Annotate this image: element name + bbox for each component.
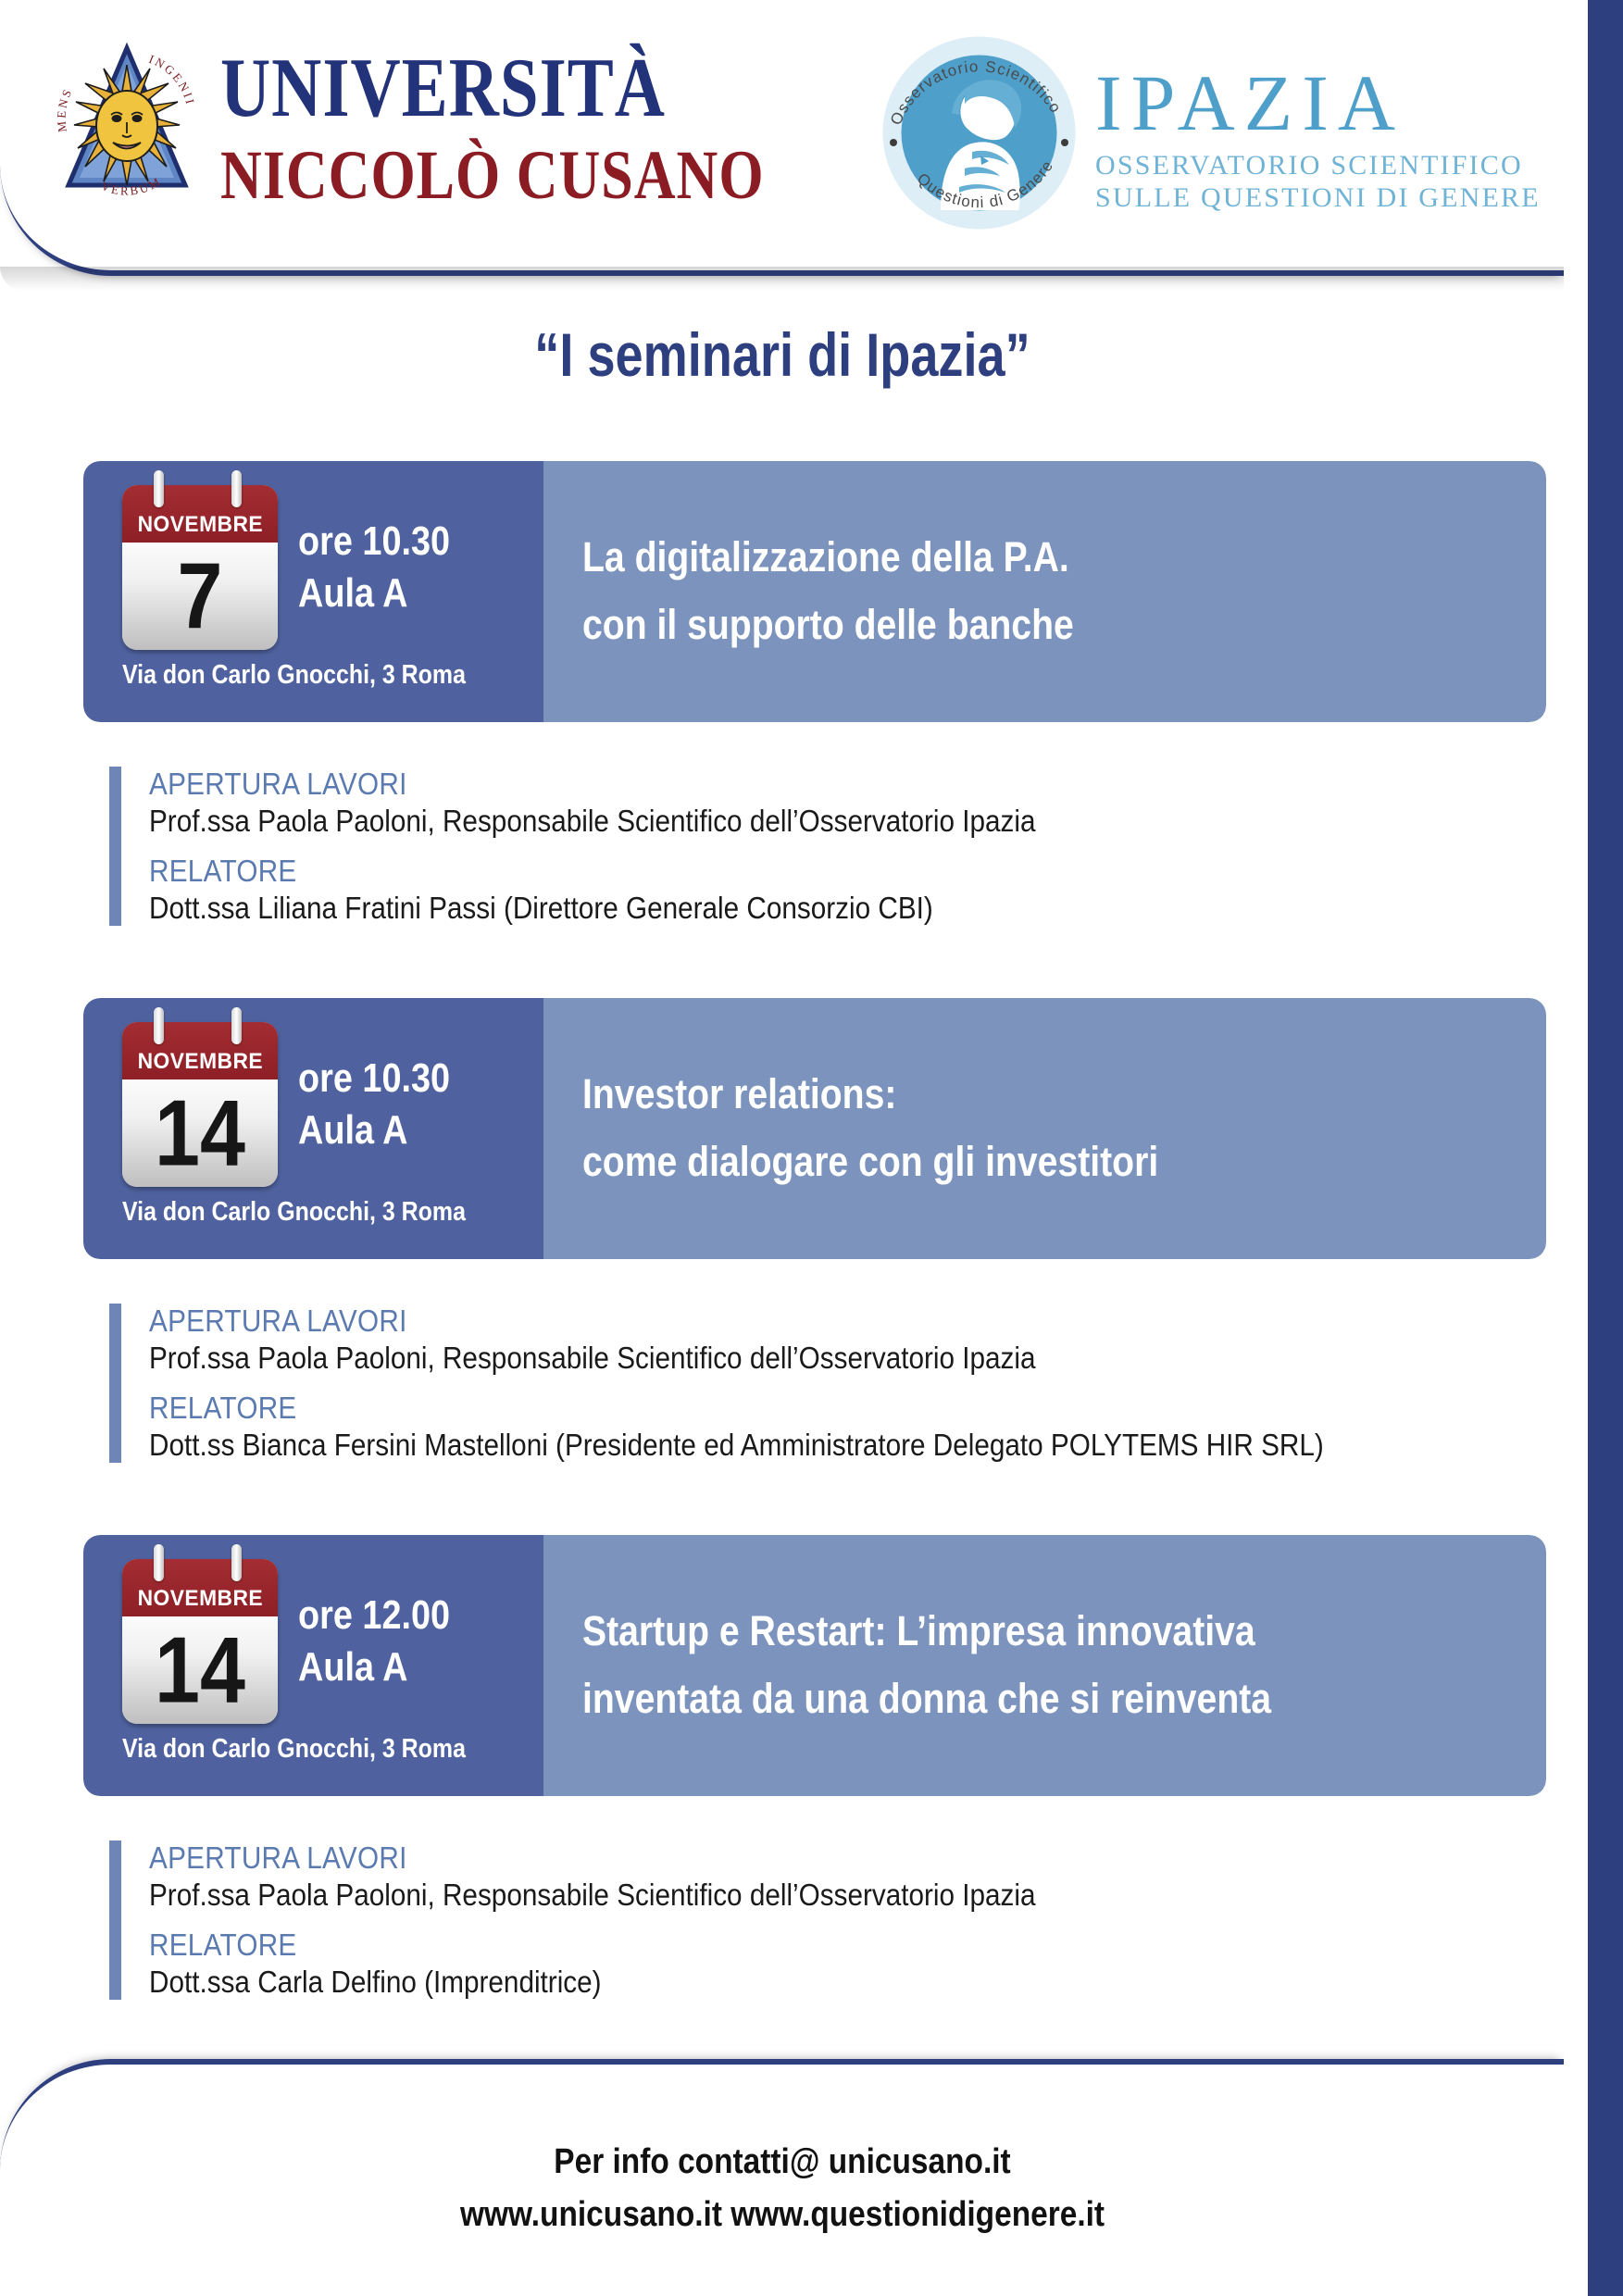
speaker-value: Dott.ssa Carla Delfino (Imprenditrice): [149, 1965, 1432, 2000]
seminar-card: NOVEMBRE 14 ore 12.00 Aula A Via don Car…: [83, 1535, 1546, 1796]
opening-label: APERTURA LAVORI: [149, 1841, 1432, 1876]
seminar-title-panel: La digitalizzazione della P.A. con il su…: [543, 461, 1546, 722]
calendar-ring-right: [231, 1007, 242, 1044]
speaker-value: Dott.ss Bianca Fersini Mastelloni (Presi…: [149, 1428, 1432, 1463]
seminar-time: ore 10.30: [298, 1053, 450, 1104]
right-edge-gap: [1564, 0, 1588, 2296]
speaker-label: RELATORE: [149, 1391, 1432, 1426]
seminar-when-where: NOVEMBRE 14 ore 12.00 Aula A Via don Car…: [83, 1535, 543, 1796]
calendar-icon: NOVEMBRE 7: [122, 485, 278, 650]
speaker-value: Dott.ssa Liliana Fratini Passi (Direttor…: [149, 891, 1432, 926]
ipazia-subtitle-line1: OSSERVATORIO SCIENTIFICO: [1095, 149, 1541, 181]
seminar-title-line2: inventata da una donna che si reinventa: [582, 1666, 1271, 1733]
seminar-address: Via don Carlo Gnocchi, 3 Roma: [122, 1734, 466, 1765]
speaker-label: RELATORE: [149, 854, 1432, 889]
svg-text:INGENII: INGENII: [147, 52, 196, 107]
ipazia-wordmark: IPAZIA OSSERVATORIO SCIENTIFICO SULLE QU…: [1095, 51, 1541, 214]
calendar-header: NOVEMBRE: [122, 1022, 278, 1079]
seminar-room: Aula A: [298, 1641, 450, 1693]
calendar-icon: NOVEMBRE 14: [122, 1022, 278, 1187]
opening-value: Prof.ssa Paola Paoloni, Responsabile Sci…: [149, 804, 1432, 839]
ipazia-name: IPAZIA: [1095, 68, 1541, 139]
speaker-label: RELATORE: [149, 1928, 1432, 1963]
seminar-block-1: NOVEMBRE 7 ore 10.30 Aula A Via don Carl…: [83, 461, 1546, 722]
seminar-block-3: NOVEMBRE 14 ore 12.00 Aula A Via don Car…: [83, 1535, 1546, 1796]
calendar-ring-right: [231, 1544, 242, 1581]
ipazia-subtitle-line2: SULLE QUESTIONI DI GENERE: [1095, 181, 1541, 214]
seminar-title-panel: Startup e Restart: L’impresa innovativa …: [543, 1535, 1546, 1796]
calendar-month: NOVEMBRE: [137, 512, 263, 543]
university-wordmark: UNIVERSITÀ NICCOLÒ CUSANO: [220, 48, 765, 198]
page-title: “I seminari di Ipazia”: [141, 319, 1424, 390]
seminar-details-2: APERTURA LAVORI Prof.ssa Paola Paoloni, …: [109, 1304, 1575, 1463]
opening-label: APERTURA LAVORI: [149, 767, 1432, 802]
seminar-time-room: ore 10.30 Aula A: [298, 516, 475, 620]
opening-value: Prof.ssa Paola Paoloni, Responsabile Sci…: [149, 1878, 1432, 1913]
svg-text:MENS: MENS: [57, 85, 75, 132]
ipazia-logo: Osservatorio Scientifico Questioni di Ge…: [880, 33, 1541, 232]
calendar-body: 14: [122, 1616, 278, 1724]
seminar-time-room: ore 10.30 Aula A: [298, 1053, 475, 1157]
seminar-title-panel: Investor relations: come dialogare con g…: [543, 998, 1546, 1259]
footer-websites-line[interactable]: www.unicusano.it www.questionidigenere.i…: [94, 2189, 1470, 2242]
seminar-title-line2: come dialogare con gli investitori: [582, 1129, 1158, 1196]
sun-emblem-icon: MENS INGENII VERBUM: [57, 37, 196, 208]
calendar-ring-left: [154, 1007, 164, 1044]
seminar-title-line1: Startup e Restart: L’impresa innovativa: [582, 1598, 1271, 1666]
logo-row: MENS INGENII VERBUM UNIVERSITÀ NICCOLÒ C…: [0, 0, 1565, 265]
calendar-day: 7: [178, 549, 223, 643]
seminar-block-2: NOVEMBRE 14 ore 10.30 Aula A Via don Car…: [83, 998, 1546, 1259]
opening-label: APERTURA LAVORI: [149, 1304, 1432, 1339]
seminar-card: NOVEMBRE 14 ore 10.30 Aula A Via don Car…: [83, 998, 1546, 1259]
calendar-header: NOVEMBRE: [122, 485, 278, 543]
calendar-ring-left: [154, 470, 164, 507]
right-edge-stripe: [1588, 0, 1623, 2296]
calendar-month: NOVEMBRE: [137, 1586, 263, 1616]
calendar-ring-left: [154, 1544, 164, 1581]
university-name-line2: NICCOLÒ CUSANO: [220, 143, 765, 210]
calendar-icon: NOVEMBRE 14: [122, 1559, 278, 1724]
seminar-room: Aula A: [298, 568, 450, 619]
unicusano-logo: MENS INGENII VERBUM UNIVERSITÀ NICCOLÒ C…: [57, 37, 765, 208]
seminar-title-line1: La digitalizzazione della P.A.: [582, 524, 1074, 592]
seminar-time-room: ore 12.00 Aula A: [298, 1590, 475, 1694]
calendar-body: 14: [122, 1079, 278, 1187]
footer-email-line: Per info contatti@ unicusano.it: [94, 2136, 1470, 2190]
ipazia-seal-icon: Osservatorio Scientifico Questioni di Ge…: [880, 33, 1079, 232]
footer-contacts: Per info contatti@ unicusano.it www.unic…: [0, 2136, 1565, 2243]
calendar-month: NOVEMBRE: [137, 1049, 263, 1079]
calendar-day: 14: [155, 1086, 245, 1179]
seminar-address: Via don Carlo Gnocchi, 3 Roma: [122, 1197, 466, 1228]
seminar-details-1: APERTURA LAVORI Prof.ssa Paola Paoloni, …: [109, 767, 1575, 926]
seminar-details-3: APERTURA LAVORI Prof.ssa Paola Paoloni, …: [109, 1841, 1575, 2000]
calendar-day: 14: [155, 1623, 245, 1716]
seminar-time: ore 12.00: [298, 1590, 450, 1641]
seminar-room: Aula A: [298, 1104, 450, 1156]
seminar-card: NOVEMBRE 7 ore 10.30 Aula A Via don Carl…: [83, 461, 1546, 722]
seminar-when-where: NOVEMBRE 14 ore 10.30 Aula A Via don Car…: [83, 998, 543, 1259]
university-name-line1: UNIVERSITÀ: [220, 48, 765, 130]
calendar-body: 7: [122, 543, 278, 650]
seminar-title-line1: Investor relations:: [582, 1061, 1158, 1129]
seminar-time: ore 10.30: [298, 516, 450, 568]
seminar-title-line2: con il supporto delle banche: [582, 592, 1074, 659]
seminar-when-where: NOVEMBRE 7 ore 10.30 Aula A Via don Carl…: [83, 461, 543, 722]
seminar-address: Via don Carlo Gnocchi, 3 Roma: [122, 660, 466, 691]
calendar-header: NOVEMBRE: [122, 1559, 278, 1616]
opening-value: Prof.ssa Paola Paoloni, Responsabile Sci…: [149, 1341, 1432, 1376]
poster-page: MENS INGENII VERBUM UNIVERSITÀ NICCOLÒ C…: [0, 0, 1623, 2296]
calendar-ring-right: [231, 470, 242, 507]
